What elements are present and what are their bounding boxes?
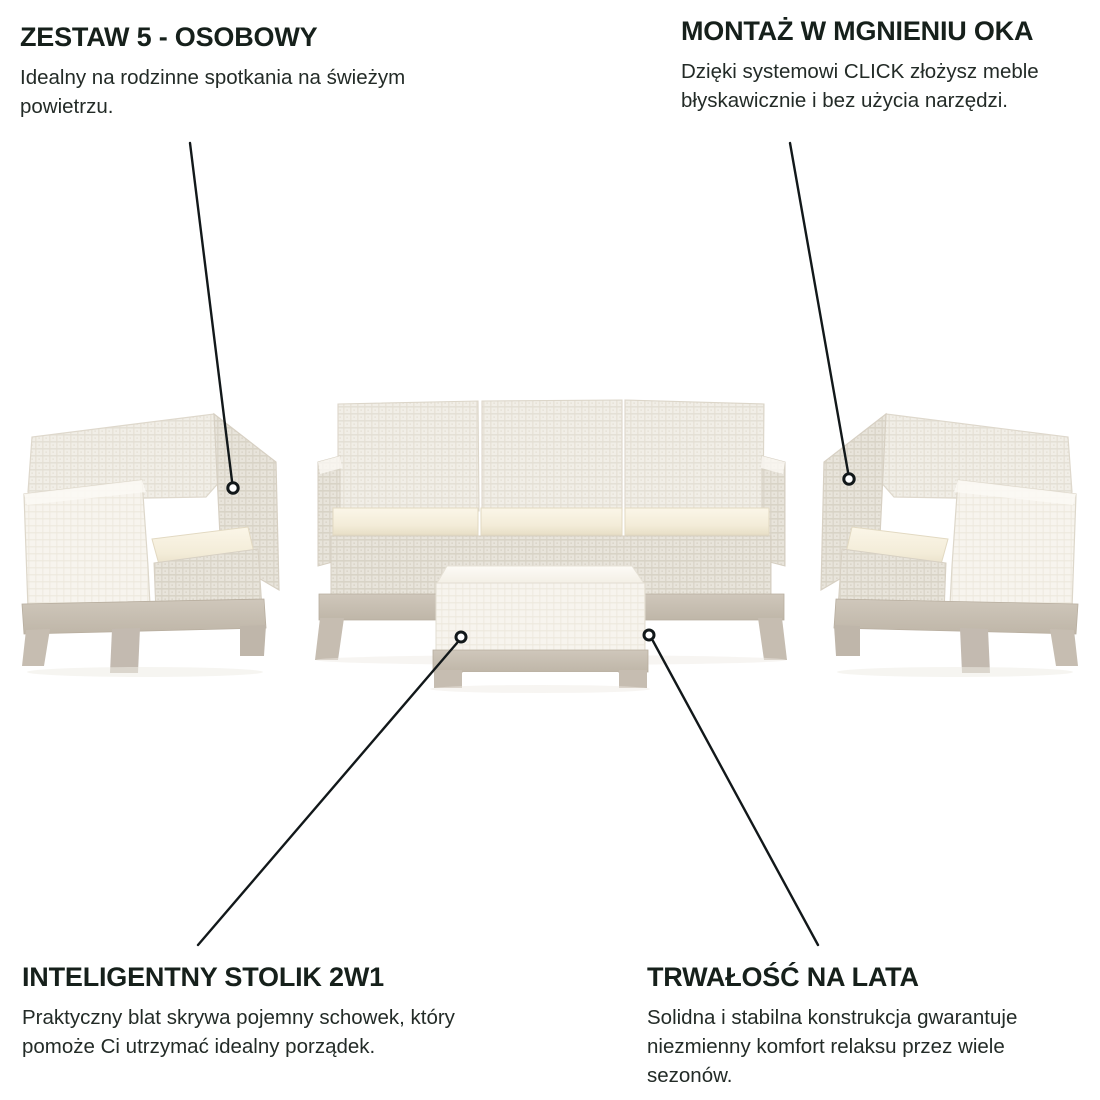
- right-armchair-base: [834, 599, 1078, 634]
- sofa-seat-cushion-3: [625, 508, 769, 535]
- left-armchair-shadow: [27, 667, 263, 677]
- sofa-leg-right: [758, 618, 787, 660]
- right-armchair-leg-back-left: [834, 625, 860, 656]
- coffee-table-base: [433, 650, 648, 672]
- left-armchair-base: [22, 599, 266, 634]
- coffee-table-foot-right: [619, 670, 647, 688]
- left-armchair-leg-back-right: [240, 625, 266, 656]
- callout-montaz: MONTAŻ W MGNIENIU OKA Dzięki systemowi C…: [681, 16, 1091, 115]
- sofa-seat-cushion-2: [481, 508, 622, 535]
- right-armchair-leg-front-left: [960, 628, 990, 673]
- callout-zestaw-title: ZESTAW 5 - OSOBOWY: [20, 22, 490, 52]
- callout-stolik-body: Praktyczny blat skrywa pojemny schowek, …: [22, 1003, 522, 1061]
- callout-stolik: INTELIGENTNY STOLIK 2W1 Praktyczny blat …: [22, 962, 522, 1061]
- coffee-table: [430, 566, 650, 693]
- callout-montaz-body: Dzięki systemowi CLICK złożysz meble bły…: [681, 57, 1091, 115]
- sofa-back-cushion-3: [625, 400, 764, 512]
- coffee-table-body: [436, 583, 645, 652]
- right-armchair-shadow: [837, 667, 1073, 677]
- right-armchair-leg-front-right: [1050, 629, 1078, 666]
- furniture-scene: [0, 0, 1100, 1100]
- left-armchair-leg-front-left: [22, 629, 50, 666]
- coffee-table-lid: [436, 566, 645, 585]
- product-infographic: ZESTAW 5 - OSOBOWY Idealny na rodzinne s…: [0, 0, 1100, 1100]
- callout-stolik-title: INTELIGENTNY STOLIK 2W1: [22, 962, 522, 992]
- sofa-back-cushion-1: [338, 401, 479, 512]
- callout-trwalosc-body: Solidna i stabilna konstrukcja gwarantuj…: [647, 1003, 1077, 1090]
- callout-trwalosc: TRWAŁOŚĆ NA LATA Solidna i stabilna kons…: [647, 962, 1077, 1091]
- callout-zestaw-body: Idealny na rodzinne spotkania na świeżym…: [20, 63, 490, 121]
- callout-zestaw: ZESTAW 5 - OSOBOWY Idealny na rodzinne s…: [20, 22, 490, 121]
- callout-montaz-title: MONTAŻ W MGNIENIU OKA: [681, 16, 1091, 46]
- sofa-leg-left: [315, 618, 344, 660]
- right-armchair: [821, 414, 1078, 677]
- sofa-seat-cushion-1: [333, 508, 478, 535]
- sofa-back-cushion-2: [482, 400, 622, 511]
- left-armchair-leg-front-right: [110, 628, 140, 673]
- callout-trwalosc-title: TRWAŁOŚĆ NA LATA: [647, 962, 1077, 992]
- coffee-table-shadow: [430, 685, 650, 693]
- left-armchair: [22, 414, 279, 677]
- coffee-table-foot-left: [434, 670, 462, 688]
